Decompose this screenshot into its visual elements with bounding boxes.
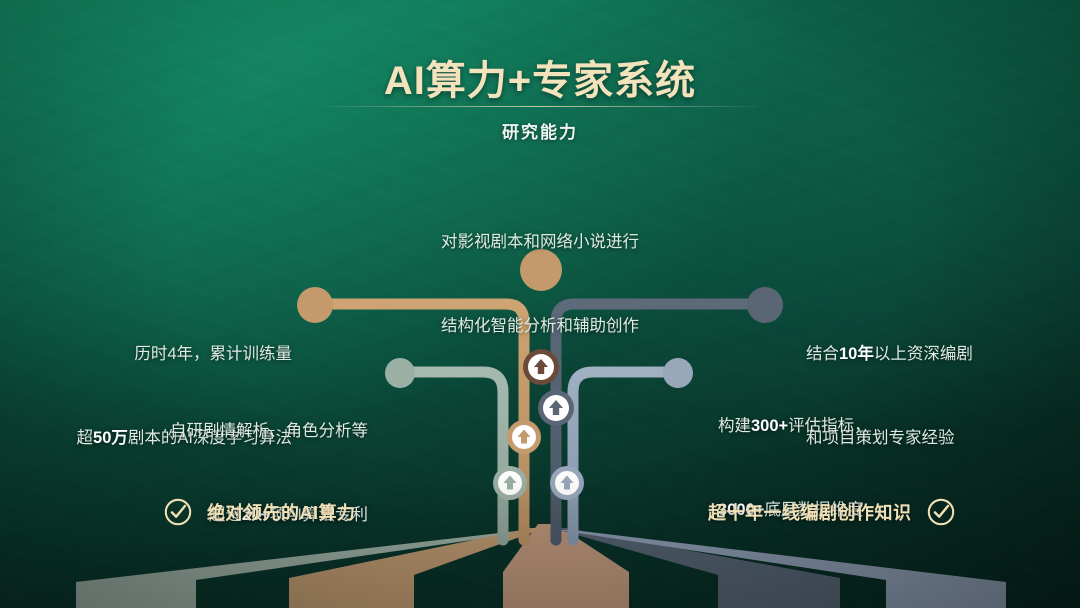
- arrow-node-3: [507, 420, 541, 454]
- badge-right: 超十年一线编剧创作知识: [708, 497, 956, 527]
- badge-left-label: 绝对领先的AI算力: [207, 499, 356, 525]
- right-callout-2: 构建300+评估指标， 3000+底层数据维度: [718, 356, 1018, 580]
- page-subtitle: 研究能力: [0, 118, 1080, 143]
- arrow-node-4: [493, 466, 527, 500]
- stem-sage: [412, 372, 503, 540]
- top-description-line1: 对影视剧本和网络小说进行: [0, 228, 1080, 256]
- slide-canvas: AI算力+专家系统 研究能力 对影视剧本和网络小说进行 结构化智能分析和辅助创作…: [0, 0, 1080, 608]
- circle-check-icon: [163, 497, 193, 527]
- badge-left: 绝对领先的AI算力: [163, 497, 356, 527]
- right-callout-2-line1: 构建300+评估指标，: [718, 412, 1018, 440]
- title-divider: [323, 106, 757, 107]
- circle-check-icon: [926, 497, 956, 527]
- page-title: AI算力+专家系统: [0, 48, 1080, 106]
- left-callout-2: 自研剧情解析、角色分析等 超过20+项AI算法专利: [0, 361, 368, 585]
- stem-slate-light: [573, 372, 666, 540]
- arrow-node-5: [550, 466, 584, 500]
- left-callout-2-line1: 自研剧情解析、角色分析等: [0, 417, 368, 445]
- badge-right-label: 超十年一线编剧创作知识: [708, 499, 912, 525]
